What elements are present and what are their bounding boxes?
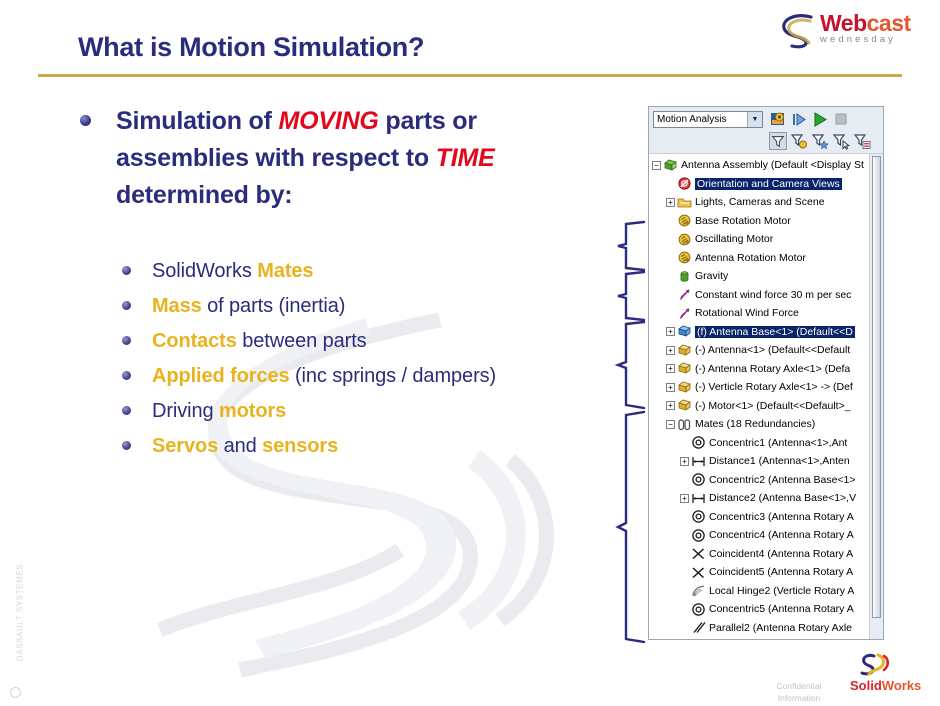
concentric-icon [691,435,706,450]
tree-row[interactable]: Base Rotation Motor [649,212,869,231]
tree-row-label: (-) Antenna Rotary Axle<1> (Defa [695,363,850,375]
motor-icon [677,250,692,265]
collapse-toggle-icon[interactable]: − [652,161,661,170]
sub-bullet-gold: motors [219,400,286,422]
logo-web-text: Web [820,10,867,36]
tree-row[interactable]: +Distance1 (Antenna<1>,Anten [649,452,869,471]
list-item: Contacts between parts [122,328,542,354]
expand-toggle-icon[interactable]: + [680,457,689,466]
solidworks-logo: SolidWorks [838,653,934,695]
tree-row-label: Base Rotation Motor [695,215,791,227]
part-icon [677,380,692,395]
title-divider [38,74,902,77]
lights-cameras-icon [677,195,692,210]
list-item: Applied forces (inc springs / dampers) [122,363,542,389]
hinge-icon [691,583,706,598]
assembly-icon [663,158,678,173]
motion-study-panel: Motion Analysis ▼ [648,106,884,640]
gravity-icon [677,269,692,284]
tree-row[interactable]: Coincident5 (Antenna Rotary A [649,563,869,582]
list-item: Driving motors [122,398,542,424]
logo-solid-text: Solid [850,678,882,693]
dassault-3ds-mark-icon [838,653,934,681]
tree-row-label: Coincident5 (Antenna Rotary A [709,566,853,578]
list-item: Mass of parts (inertia) [122,293,542,319]
main-bullet-emphasis-moving: MOVING [278,107,378,135]
tree-row[interactable]: Gravity [649,267,869,286]
tree-row-label: (-) Antenna<1> (Default<<Default [695,344,850,356]
webcast-wednesday-logo: Webcast wednesday [778,8,928,54]
distance-icon [691,454,706,469]
tree-row-label: (-) Verticle Rotary Axle<1> -> (Def [695,381,853,393]
tree-row[interactable]: Parallel2 (Antenna Rotary Axle [649,619,869,638]
tree-row[interactable]: +(-) Verticle Rotary Axle<1> -> (Def [649,378,869,397]
part-icon [677,343,692,358]
feature-tree-container: −Antenna Assembly (Default <Display StOr… [649,154,883,640]
tree-indent-spacer [666,309,675,318]
tree-indent-spacer [680,623,689,632]
sub-bullet-post: (inc springs / dampers) [290,365,497,387]
tree-row-label: Mates (18 Redundancies) [695,418,815,430]
logo-works-text: Works [882,678,922,693]
sub-bullet-post: and [218,435,262,457]
sub-bullet-gold: Applied forces [152,365,290,387]
dassault-systemes-text: DASSAULT SYSTEMES [16,553,25,673]
mates-folder-icon [677,417,692,432]
tree-row[interactable]: Coincident4 (Antenna Rotary A [649,545,869,564]
part-icon [677,398,692,413]
brace-forces [618,272,644,320]
main-bullet-part1: Simulation of [116,107,278,135]
distance-icon [691,491,706,506]
tree-row[interactable]: −Mates (18 Redundancies) [649,415,869,434]
main-bullet-emphasis-time: TIME [436,144,495,172]
tree-row-label: Parallel2 (Antenna Rotary Axle [709,622,852,634]
part-fixed-icon [677,324,692,339]
sub-bullet-pre: SolidWorks [152,260,257,282]
tree-row[interactable]: Concentric2 (Antenna Base<1> [649,471,869,490]
tree-row[interactable]: Oscillating Motor [649,230,869,249]
calculate-icon[interactable] [769,110,787,128]
sub-bullet-gold: Contacts [152,330,237,352]
tree-indent-spacer [680,438,689,447]
tree-indent-spacer [680,605,689,614]
tree-row[interactable]: Local Hinge2 (Verticle Rotary A [649,582,869,601]
tree-row[interactable]: Concentric3 (Antenna Rotary A [649,508,869,527]
main-bullet-part3: determined by: [116,181,292,209]
tree-row-label: Rotational Wind Force [695,307,799,319]
tree-row-label: Coincident4 (Antenna Rotary A [709,548,853,560]
expand-toggle-icon[interactable]: + [666,401,675,410]
sub-bullet-post: of parts (inertia) [202,295,346,317]
study-type-value: Motion Analysis [657,112,747,127]
expand-toggle-icon[interactable]: + [666,364,675,373]
webcast-swoosh-icon [778,12,820,50]
concentric-icon [691,528,706,543]
stop-icon[interactable] [832,110,850,128]
play-from-start-icon[interactable] [790,110,808,128]
filter-results-icon[interactable] [853,132,871,150]
tree-row-label: Antenna Assembly (Default <Display St [681,159,864,171]
page-title: What is Motion Simulation? [78,32,424,63]
tree-indent-spacer [666,216,675,225]
dassault-circle-icon [10,687,21,698]
coincident-icon [691,546,706,561]
tree-row-label: Oscillating Motor [695,233,773,245]
filter-all-icon[interactable] [769,132,787,150]
part-icon [677,361,692,376]
tree-row-label: Constant wind force 30 m per sec [695,289,851,301]
tree-scrollbar-thumb[interactable] [872,156,881,618]
hinge-icon [691,639,706,640]
tree-indent-spacer [666,253,675,262]
tree-row[interactable]: −Antenna Assembly (Default <Display St [649,156,869,175]
tree-row-label: Concentric2 (Antenna Base<1> [709,474,856,486]
expand-toggle-icon[interactable]: + [666,346,675,355]
bullet-dot-icon [122,406,131,415]
tree-row-label: Concentric1 (Antenna<1>,Ant [709,437,847,449]
study-type-select[interactable]: Motion Analysis ▼ [653,111,763,128]
tree-indent-spacer [666,272,675,281]
tree-indent-spacer [680,475,689,484]
force-arrow-icon [677,287,692,302]
tree-row[interactable]: +(-) Antenna<1> (Default<<Default [649,341,869,360]
main-bullet: Simulation of MOVING parts or assemblies… [80,103,560,214]
panel-toolbar: Motion Analysis ▼ [649,107,883,154]
tree-indent-spacer [680,512,689,521]
motor-icon [677,213,692,228]
force-arrow-icon [677,306,692,321]
tree-row-label: Antenna Rotation Motor [695,252,806,264]
tree-indent-spacer [666,179,675,188]
tree-row-label: Local Hinge2 (Verticle Rotary A [709,585,854,597]
tree-row-label: Distance1 (Antenna<1>,Anten [709,455,850,467]
bullet-dot-icon [122,371,131,380]
filter-selected-icon[interactable] [832,132,850,150]
tree-indent-spacer [680,568,689,577]
tree-row[interactable]: Orientation and Camera Views [649,175,869,194]
tree-row-label: Distance2 (Antenna Base<1>,V [709,492,856,504]
tree-indent-spacer [680,586,689,595]
concentric-icon [691,509,706,524]
tree-indent-spacer [680,531,689,540]
sub-bullet-pre: Driving [152,400,219,422]
tree-row[interactable]: Constant wind force 30 m per sec [649,286,869,305]
logo-cast-text: cast [867,10,911,36]
tree-row[interactable]: +(-) Antenna Rotary Axle<1> (Defa [649,360,869,379]
expand-toggle-icon[interactable]: + [666,383,675,392]
list-item: SolidWorks Mates [122,258,542,284]
filter-driving-icon[interactable] [790,132,808,150]
tree-row-label: (-) Motor<1> (Default<<Default>_ [695,400,851,412]
sub-bullet-gold: Servos [152,435,218,457]
filter-simulation-icon[interactable] [811,132,829,150]
tree-row[interactable]: Rotational Wind Force [649,304,869,323]
expand-toggle-icon[interactable]: + [666,198,675,207]
bullet-dot-icon [122,266,131,275]
brace-motors [618,222,644,270]
brace-mates [618,412,644,642]
play-icon[interactable] [811,110,829,128]
tree-row[interactable]: Concentric1 (Antenna<1>,Ant [649,434,869,453]
bullet-dot-icon [122,336,131,345]
tree-row[interactable]: Concentric4 (Antenna Rotary A [649,526,869,545]
tree-row-label: Concentric4 (Antenna Rotary A [709,529,854,541]
tree-row[interactable]: +(f) Antenna Base<1> (Default<<D [649,323,869,342]
tree-row[interactable]: Antenna Rotation Motor [649,249,869,268]
bullet-dot-icon [122,301,131,310]
tree-row[interactable]: +Distance2 (Antenna Base<1>,V [649,489,869,508]
chevron-down-icon[interactable]: ▼ [747,112,762,127]
coincident-icon [691,565,706,580]
sub-bullet-gold2: sensors [262,435,338,457]
concentric-icon [691,602,706,617]
dassault-systemes-vertical-label: DASSAULT SYSTEMES [2,560,28,700]
feature-tree[interactable]: −Antenna Assembly (Default <Display StOr… [649,154,869,640]
tree-row-label: Lights, Cameras and Scene [695,196,825,208]
brace-parts [618,322,644,408]
tree-row-label: (f) Antenna Base<1> (Default<<D [695,326,855,338]
tree-row-label: Gravity [695,270,728,282]
filter-toolbar [769,132,871,150]
collapse-toggle-icon[interactable]: − [666,420,675,429]
tree-row[interactable]: +(-) Motor<1> (Default<<Default>_ [649,397,869,416]
tree-row[interactable]: Hinge4 (Verticle Rotary Axle<1 [649,637,869,640]
sub-bullet-post: between parts [237,330,367,352]
tree-row[interactable]: Concentric5 (Antenna Rotary A [649,600,869,619]
expand-toggle-icon[interactable]: + [666,327,675,336]
tree-row-label: Concentric5 (Antenna Rotary A [709,603,854,615]
main-bullet-text: Simulation of MOVING parts or assemblies… [116,103,560,214]
sub-bullet-gold: Mates [257,260,313,282]
bullet-dot-icon [80,115,91,126]
tree-indent-spacer [666,290,675,299]
tree-row-label: Concentric3 (Antenna Rotary A [709,511,854,523]
motor-icon [677,232,692,247]
tree-indent-spacer [680,549,689,558]
parallel-icon [691,620,706,635]
expand-toggle-icon[interactable]: + [680,494,689,503]
concentric-icon [691,472,706,487]
sub-bullet-list: SolidWorks Mates Mass of parts (inertia)… [122,258,542,468]
tree-row[interactable]: +Lights, Cameras and Scene [649,193,869,212]
tree-row-label: Orientation and Camera Views [695,178,842,190]
sub-bullet-gold: Mass [152,295,202,317]
tree-scrollbar[interactable] [869,154,883,640]
orientation-camera-icon [677,176,692,191]
playback-toolbar [769,110,850,128]
bullet-dot-icon [122,441,131,450]
tree-indent-spacer [666,235,675,244]
list-item: Servos and sensors [122,433,542,459]
